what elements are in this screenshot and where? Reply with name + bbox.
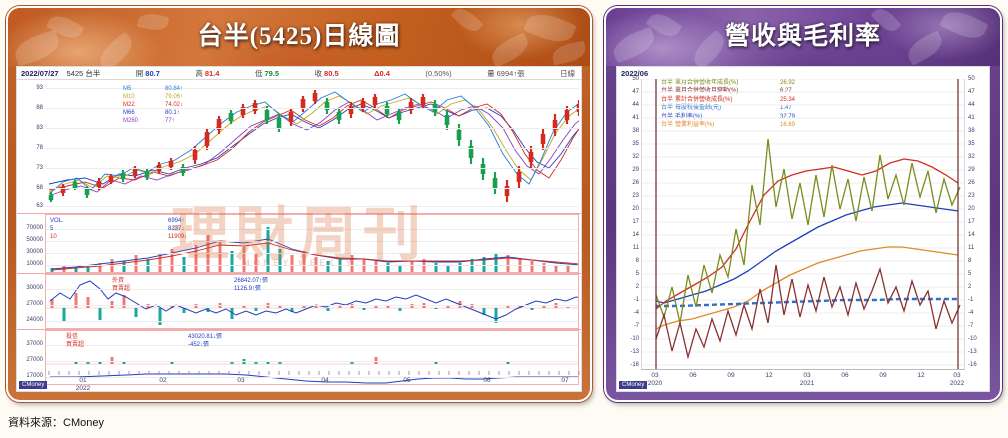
open-label: 開 (136, 68, 144, 79)
trust-value-1: 43020.81↓張 (188, 333, 222, 341)
cmoney-logo-right: CMoney (619, 381, 647, 389)
trust-title-line2: 買賣超 (66, 341, 108, 349)
left-xtick-label: 03 (237, 377, 244, 385)
right-ytick: 14 (632, 232, 639, 238)
right-ytick: 47 (632, 89, 639, 95)
volume-plot[interactable]: VOL.6994↑ 58237↓ 1011909↓ (45, 214, 579, 273)
close-label: 收 (315, 68, 323, 79)
ma22-label: M22 (123, 101, 165, 109)
left-xtick-label: 02 (159, 377, 166, 385)
right-ytick: 35 (632, 141, 639, 147)
foreign-title-line1: 外資 (112, 277, 154, 285)
right-banner: 營收與毛利率 (606, 8, 1000, 66)
volume-subpanel: 70000 50000 30000 10000 VOL.6994↑ 58237↓… (17, 213, 581, 273)
right-ytick: -10 (630, 336, 639, 342)
right-ytick: 2 (636, 284, 639, 290)
right-ytick: 8 (636, 258, 639, 264)
vol-label: VOL. (50, 217, 92, 225)
right-ytick-mirror: 2 (968, 284, 971, 290)
right-ytick-mirror: 14 (968, 232, 975, 238)
price-ytick: 88 (36, 105, 43, 111)
right-ytick-mirror: 35 (968, 141, 975, 147)
vol-value: 6994↑ (168, 217, 184, 225)
right-ytick: 44 (632, 102, 639, 108)
quote-symbol: 5425 台半 (67, 68, 101, 79)
change-percent: (0.50%) (425, 69, 451, 78)
foreign-subpanel: 30000 27000 24000 外資26842.07↑張 買賣超1126.9… (17, 273, 581, 329)
right-plot[interactable] (641, 79, 965, 369)
left-xtick-sub: 2022 (76, 385, 90, 393)
right-ytick: 23 (632, 193, 639, 199)
right-xtick-label: 06 (841, 372, 848, 380)
right-xtick-label: 09 (879, 372, 886, 380)
ma66-value: 80.1↑ (165, 109, 180, 117)
volume-value: 6994↑張 (497, 68, 525, 79)
trust-value-2: -452↓張 (188, 341, 209, 349)
right-chart-body: 2022/06 CMoney 台半單月合併營收年成長(%)26.92 台半單月合… (616, 66, 990, 392)
foreign-yaxis: 30000 27000 24000 (17, 274, 45, 329)
foreign-plot[interactable]: 外資26842.07↑張 買賣超1126.9↑張 (45, 274, 579, 329)
right-ytick-mirror: 32 (968, 154, 975, 160)
foreign-value-2: 1126.9↑張 (234, 285, 261, 293)
right-ytick-mirror: -4 (968, 310, 973, 316)
right-ytick: -16 (630, 362, 639, 368)
price-ytick: 73 (36, 165, 43, 171)
right-ytick-mirror: 38 (968, 128, 975, 134)
foreign-value-1: 26842.07↑張 (234, 277, 268, 285)
right-ytick-mirror: -13 (968, 349, 977, 355)
price-subpanel: 93 88 83 78 73 68 63 M580.84↑ M1079.06↑ (17, 80, 581, 213)
trust-ytick: 27000 (26, 357, 43, 363)
right-xtick-sub: 2021 (800, 380, 814, 388)
right-yaxis-left: 50 47 44 41 38 35 32 29 26 23 20 17 14 1… (617, 79, 641, 379)
left-banner: 台半(5425)日線圖 (8, 8, 590, 66)
right-xaxis: 03 2020 06 09 12 03 2021 06 09 12 03 202… (641, 369, 965, 391)
right-chart-panel: 營收與毛利率 2022/06 CMoney 台半單月合併營收年成長(%)26.9… (604, 6, 1002, 402)
right-ytick-mirror: 11 (968, 245, 974, 251)
volume-label: 量 (487, 68, 495, 79)
left-xtick-label: 05 (403, 377, 410, 385)
low-label: 低 (255, 68, 263, 79)
right-ytick: 41 (632, 115, 639, 121)
foreign-legend: 外資26842.07↑張 買賣超1126.9↑張 (112, 277, 268, 293)
right-chart-title: 營收與毛利率 (606, 8, 1000, 66)
right-ytick: 26 (632, 180, 639, 186)
trust-ytick: 37000 (26, 341, 43, 347)
right-ytick: 32 (632, 154, 639, 160)
low-value: 79.5 (264, 69, 279, 78)
volume-ytick: 10000 (26, 261, 43, 267)
right-ytick-mirror: 50 (968, 76, 975, 82)
price-yaxis: 93 88 83 78 73 68 63 (17, 80, 45, 213)
vol-ma10-value: 11909↓ (168, 233, 187, 241)
ma-legend: M580.84↑ M1079.06↑ M2274.02↓ M6680.1↑ M2… (123, 85, 183, 125)
foreign-ytick: 27000 (26, 301, 43, 307)
right-ytick-mirror: -7 (968, 323, 973, 329)
right-ytick-mirror: 44 (968, 102, 975, 108)
price-plot[interactable]: M580.84↑ M1079.06↑ M2274.02↓ M6680.1↑ M2… (45, 80, 579, 213)
change-value: Δ0.4 (374, 69, 390, 78)
left-chart-panel: 台半(5425)日線圖 2022/07/27 5425 台半 開 80.7 高 … (6, 6, 592, 402)
right-ytick: 38 (632, 128, 639, 134)
ma5-value: 80.84↑ (165, 85, 183, 93)
price-ytick: 93 (36, 85, 43, 91)
right-xtick-label: 03 (950, 372, 964, 380)
vol-ma5-value: 8237↓ (168, 225, 184, 233)
volume-legend: VOL.6994↑ 58237↓ 1011909↓ (50, 217, 187, 241)
source-note: 資料來源：CMoney (8, 414, 104, 430)
right-ytick: -7 (634, 323, 639, 329)
left-xtick-label: 04 (321, 377, 328, 385)
right-series-svg (642, 79, 965, 369)
right-xtick-sub: 2020 (648, 380, 662, 388)
vol-ma5-label: 5 (50, 225, 92, 233)
high-label: 高 (195, 68, 203, 79)
right-ytick-mirror: 5 (968, 271, 971, 277)
right-xtick-label: 12 (765, 372, 772, 380)
trust-ytick: 17000 (26, 373, 43, 379)
trust-legend: 投信43020.81↓張 買賣超-452↓張 (66, 333, 222, 349)
ma22-value: 74.02↓ (165, 101, 183, 109)
right-ytick: -1 (634, 297, 639, 303)
right-ytick-mirror: -10 (968, 336, 977, 342)
right-ytick: 20 (632, 206, 639, 212)
right-xtick-label: 09 (727, 372, 734, 380)
foreign-ytick: 30000 (26, 285, 43, 291)
high-value: 81.4 (205, 69, 220, 78)
right-ytick-mirror: -1 (968, 297, 973, 303)
left-xaxis-tickrow (45, 371, 579, 375)
left-chart-title: 台半(5425)日線圖 (8, 8, 590, 66)
right-ytick-mirror: 26 (968, 180, 975, 186)
right-ytick: 17 (632, 219, 639, 225)
ma260-value: 77↑ (165, 117, 175, 125)
volume-ytick: 30000 (26, 249, 43, 255)
right-yaxis-right: 50 47 44 41 38 35 32 29 26 23 20 17 14 1… (965, 79, 989, 379)
ma10-value: 79.06↑ (165, 93, 183, 101)
price-ytick: 83 (36, 125, 43, 131)
cmoney-logo-left: CMoney (19, 381, 47, 389)
right-ytick-mirror: 29 (968, 167, 975, 173)
volume-ytick: 70000 (26, 225, 43, 231)
left-chart-body: 2022/07/27 5425 台半 開 80.7 高 81.4 低 79.5 … (16, 66, 582, 392)
foreign-title-line2: 買賣超 (112, 285, 154, 293)
trust-title-line1: 投信 (66, 333, 108, 341)
right-ytick: 50 (632, 76, 639, 82)
foreign-ytick: 24000 (26, 317, 43, 323)
right-ytick-mirror: 47 (968, 89, 975, 95)
right-xtick-label: 03 (800, 372, 814, 380)
right-xtick-label: 12 (917, 372, 924, 380)
price-ytick: 63 (36, 203, 43, 209)
right-ytick-mirror: -16 (968, 362, 977, 368)
open-value: 80.7 (145, 69, 160, 78)
right-ytick: 5 (636, 271, 639, 277)
right-ytick-mirror: 41 (968, 115, 975, 121)
quote-infobar: 2022/07/27 5425 台半 開 80.7 高 81.4 低 79.5 … (17, 67, 581, 80)
ma260-label: M260 (123, 117, 165, 125)
right-ytick-mirror: 8 (968, 258, 971, 264)
volume-ytick: 50000 (26, 237, 43, 243)
right-xtick-label: 03 (648, 372, 662, 380)
close-value: 80.5 (324, 69, 339, 78)
right-ytick-mirror: 23 (968, 193, 975, 199)
volume-yaxis: 70000 50000 30000 10000 (17, 214, 45, 273)
price-ytick: 68 (36, 185, 43, 191)
left-xtick-label: 07 (561, 377, 568, 385)
left-xtick-label: 01 (76, 377, 90, 385)
right-ytick-mirror: 20 (968, 206, 975, 212)
ma66-label: M66 (123, 109, 165, 117)
quote-date: 2022/07/27 (21, 69, 59, 78)
right-ytick: 29 (632, 167, 639, 173)
right-ytick: -4 (634, 310, 639, 316)
price-ytick: 78 (36, 145, 43, 151)
ma5-label: M5 (123, 85, 165, 93)
trust-yaxis: 37000 27000 17000 (17, 330, 45, 385)
left-subpanel-stack: 93 88 83 78 73 68 63 M580.84↑ M1079.06↑ (17, 80, 581, 391)
right-xtick-label: 06 (689, 372, 696, 380)
period-label: 日線 (560, 68, 575, 79)
left-xtick-label: 06 (483, 377, 490, 385)
right-ytick-mirror: 17 (968, 219, 975, 225)
vol-ma10-label: 10 (50, 233, 92, 241)
left-xaxis: 01 2022 02 03 04 05 06 07 (45, 371, 579, 391)
right-ytick: -13 (630, 349, 639, 355)
right-ytick: 11 (633, 245, 639, 251)
ma10-label: M10 (123, 93, 165, 101)
right-xtick-sub: 2022 (950, 380, 964, 388)
